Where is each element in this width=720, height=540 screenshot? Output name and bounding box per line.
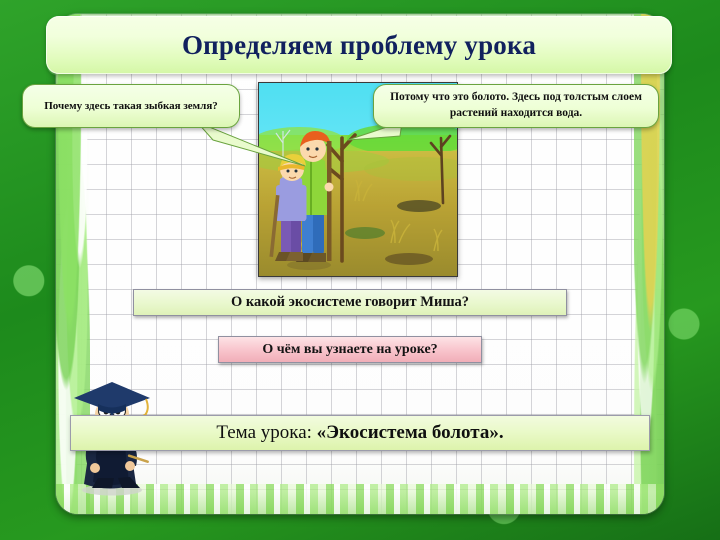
slide-canvas: Определяем проблему урока [0, 0, 720, 540]
question-bubble-text: Почему здесь такая зыбкая земля? [44, 99, 218, 114]
question-ecosystem-box: О какой экосистеме говорит Миша? [133, 289, 567, 316]
lesson-theme-topic: «Экосистема болота». [317, 422, 504, 443]
page-title: Определяем проблему урока [182, 30, 536, 61]
lesson-theme-text: Тема урока: «Экосистема болота». [216, 422, 503, 444]
question-ecosystem-text: О какой экосистеме говорит Миша? [231, 294, 469, 311]
answer-bubble-text: Потому что это болото. Здесь под толстым… [383, 90, 649, 121]
question-lesson-text: О чём вы узнаете на уроке? [262, 342, 437, 358]
question-lesson-box: О чём вы узнаете на уроке? [218, 336, 482, 363]
slide-title-bar: Определяем проблему урока [46, 16, 672, 74]
lesson-theme-prefix: Тема урока: [216, 422, 316, 443]
answer-bubble: Потому что это болото. Здесь под толстым… [373, 84, 659, 128]
question-bubble: Почему здесь такая зыбкая земля? [22, 84, 240, 128]
lesson-theme-bar: Тема урока: «Экосистема болота». [70, 415, 650, 451]
